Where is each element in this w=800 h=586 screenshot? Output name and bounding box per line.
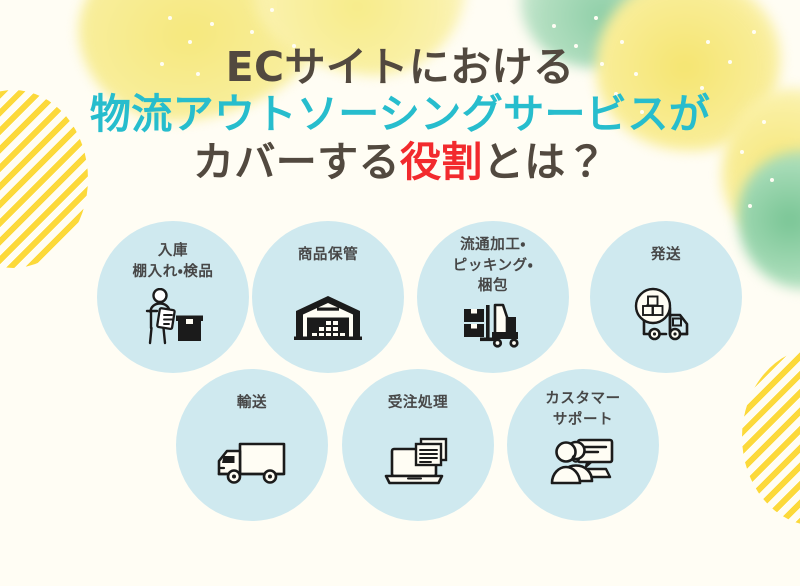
- title-line-3-suffix: とは？: [483, 138, 607, 186]
- service-circle-processing[interactable]: 流通加工・ ピッキング・ 梱包: [417, 221, 569, 373]
- warehouse-icon: [292, 292, 364, 340]
- service-circle-transport[interactable]: 輸送: [176, 369, 328, 521]
- striped-circle-right: [742, 348, 800, 526]
- service-label-shipping: 発送: [651, 245, 681, 266]
- service-label-transport: 輸送: [237, 393, 267, 414]
- title-line-2: 物流アウトソーシングサービスが: [0, 91, 800, 138]
- laptop-documents-icon: [383, 436, 453, 488]
- service-circle-shipping[interactable]: 発送: [590, 221, 742, 373]
- title-line-3: カバーする役割とは？: [0, 139, 800, 186]
- service-circle-order-processing[interactable]: 受注処理: [342, 369, 494, 521]
- service-label-inbound-line2: 棚入れ・検品: [133, 262, 214, 283]
- page-title: ECサイトにおける 物流アウトソーシングサービスが カバーする役割とは？: [0, 44, 800, 186]
- service-label-storage: 商品保管: [298, 245, 358, 266]
- service-label-processing-line3: 梱包: [478, 276, 508, 297]
- service-circle-inbound[interactable]: 入庫 棚入れ・検品: [97, 221, 249, 373]
- title-line-3-prefix: カバーする: [193, 138, 400, 186]
- delivery-truck-boxes-icon: [630, 286, 702, 342]
- service-label-processing-line1: 流通加工・: [460, 235, 526, 256]
- infographic-canvas: ECサイトにおける 物流アウトソーシングサービスが カバーする役割とは？ 入庫 …: [0, 0, 800, 586]
- title-line-1: ECサイトにおける: [0, 44, 800, 91]
- service-circle-customer-support[interactable]: カスタマー サポート: [507, 369, 659, 521]
- box-truck-icon: [215, 438, 289, 486]
- service-label-order-processing: 受注処理: [388, 393, 448, 414]
- service-label-processing-line2: ピッキング・: [453, 256, 533, 277]
- title-highlight-role: 役割: [400, 138, 483, 186]
- service-label-support-line1: カスタマー: [545, 389, 620, 410]
- service-circle-storage[interactable]: 商品保管: [252, 221, 404, 373]
- service-label-support-line2: サポート: [553, 410, 613, 431]
- worker-clipboard-box-icon: [142, 288, 204, 346]
- service-label-inbound-line1: 入庫: [158, 241, 188, 262]
- forklift-pallet-icon: [462, 299, 524, 349]
- operator-speech-bubble-icon: [550, 436, 616, 486]
